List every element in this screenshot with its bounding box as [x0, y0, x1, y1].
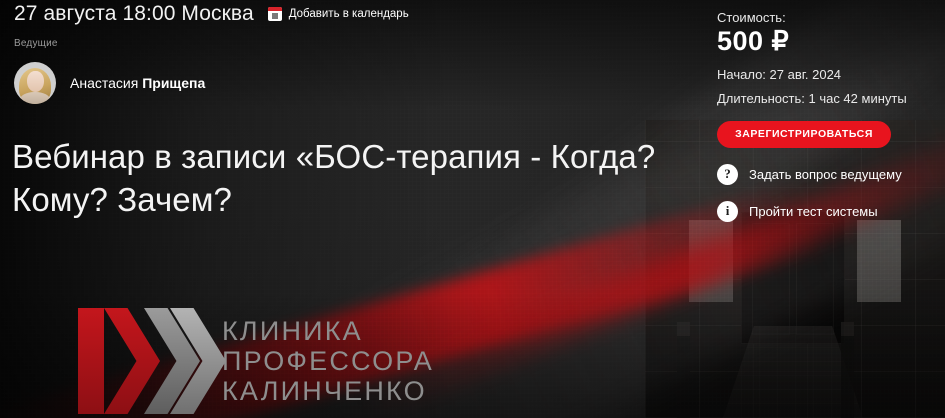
logo-line-2: Профессора [222, 346, 434, 376]
avatar-face [27, 71, 44, 92]
host-last-name: Прищепа [142, 75, 205, 91]
logo-line-3: Калинченко [222, 376, 434, 406]
event-datetime: 27 августа 18:00 Москва [14, 2, 254, 26]
logo-line-1: Клиника [222, 316, 434, 346]
clinic-logo-text: Клиника Профессора Калинченко [222, 316, 434, 407]
page-title: Вебинар в записи «БОС-терапия - Когда? К… [12, 136, 692, 222]
banner-content: 27 августа 18:00 Москва Добавить в кален… [0, 0, 945, 418]
add-to-calendar-link[interactable]: Добавить в календарь [268, 7, 409, 21]
host-first-name: Анастасия [70, 75, 138, 91]
logo-chevron-red [104, 308, 160, 414]
question-mark-icon: ? [717, 164, 738, 185]
add-to-calendar-label: Добавить в календарь [289, 8, 409, 20]
price-label: Стоимость: [717, 10, 931, 25]
duration-line: Длительность: 1 час 42 минуты [717, 91, 931, 106]
avatar-body [20, 92, 50, 104]
webinar-banner: 27 августа 18:00 Москва Добавить в кален… [0, 0, 945, 418]
avatar [14, 62, 56, 104]
hosts-label: Ведущие [14, 38, 58, 49]
logo-k-bar [78, 308, 104, 414]
register-button[interactable]: ЗАРЕГИСТРИРОВАТЬСЯ [717, 121, 891, 148]
clinic-logo-mark-icon [78, 308, 206, 414]
ask-question-link[interactable]: ? Задать вопрос ведущему [717, 164, 931, 185]
system-test-link[interactable]: i Пройти тест системы [717, 201, 931, 222]
calendar-icon [268, 7, 282, 21]
ask-question-label: Задать вопрос ведущему [749, 167, 902, 182]
info-panel: Стоимость: 500 ₽ Начало: 27 авг. 2024 Дл… [713, 0, 945, 222]
clinic-logo: Клиника Профессора Калинченко [78, 308, 434, 414]
host-item[interactable]: Анастасия Прищепа [14, 62, 205, 104]
price-value: 500 ₽ [717, 26, 931, 58]
start-date-line: Начало: 27 авг. 2024 [717, 67, 931, 82]
info-icon: i [717, 201, 738, 222]
host-name: Анастасия Прищепа [70, 75, 205, 91]
header-row: 27 августа 18:00 Москва Добавить в кален… [14, 2, 409, 26]
system-test-label: Пройти тест системы [749, 204, 878, 219]
